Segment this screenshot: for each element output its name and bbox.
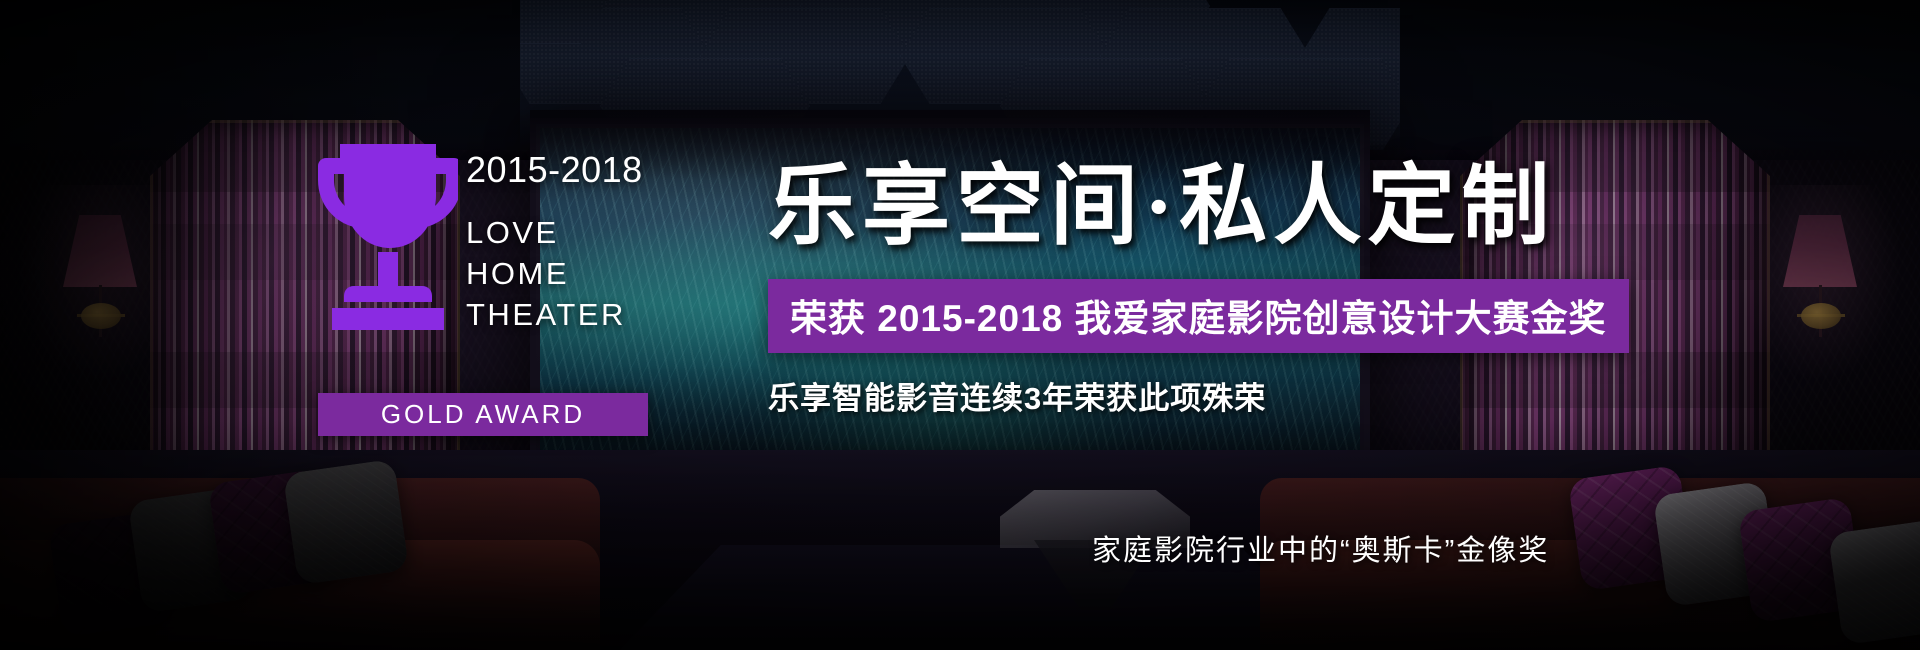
- home-theater-award-banner: 2015-2018 LOVE HOME THEATER GOLD AWARD 乐…: [0, 0, 1920, 650]
- gold-award-badge: GOLD AWARD: [318, 393, 648, 436]
- trophy-icon: [318, 140, 458, 330]
- banner-content: 2015-2018 LOVE HOME THEATER GOLD AWARD 乐…: [0, 0, 1920, 650]
- headline-block: 乐享空间·私人定制 荣获 2015-2018 我爱家庭影院创意设计大赛金奖 乐享…: [768, 160, 1828, 418]
- award-line-home: HOME: [466, 253, 656, 294]
- award-years: 2015-2018: [466, 152, 656, 188]
- award-banner-bar: 荣获 2015-2018 我爱家庭影院创意设计大赛金奖: [768, 279, 1629, 353]
- award-line-love: LOVE: [466, 212, 656, 253]
- page-title: 乐享空间·私人定制: [768, 160, 1828, 255]
- gold-award-label: GOLD AWARD: [381, 399, 585, 430]
- award-line-theater: THEATER: [466, 294, 656, 335]
- award-text-block: 2015-2018 LOVE HOME THEATER: [466, 152, 656, 336]
- award-block: 2015-2018 LOVE HOME THEATER GOLD AWARD: [318, 140, 648, 370]
- award-banner-text: 荣获 2015-2018 我爱家庭影院创意设计大赛金奖: [790, 298, 1607, 339]
- tagline: 乐享智能影音连续3年荣获此项殊荣: [768, 373, 1828, 418]
- bottom-caption: 家庭影院行业中的“奥斯卡”金像奖: [1092, 527, 1549, 569]
